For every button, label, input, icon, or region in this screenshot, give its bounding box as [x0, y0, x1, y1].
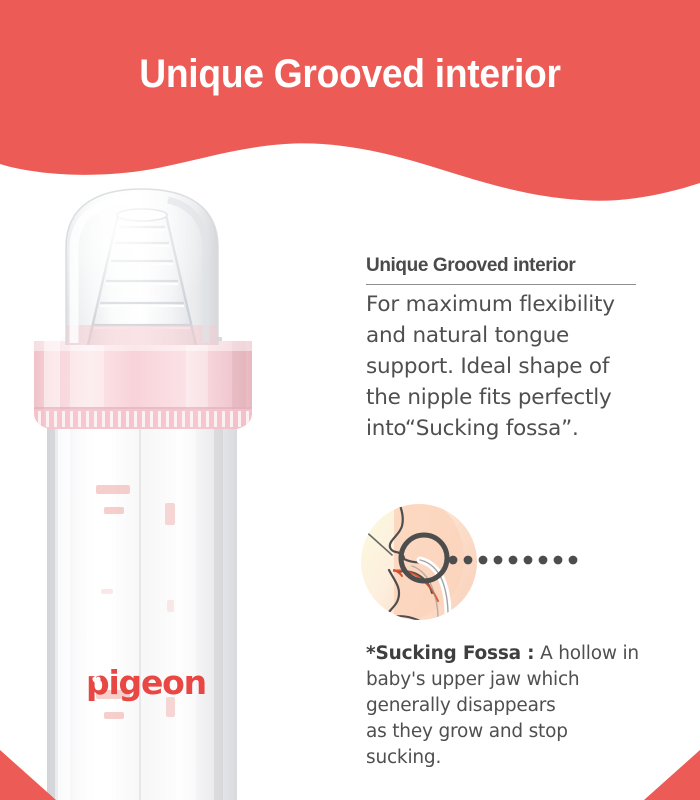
feature-text-panel: Unique Grooved interior For maximum flex… — [366, 255, 666, 444]
bottle-graphic — [0, 185, 340, 800]
baby-profile-diagram — [358, 500, 588, 625]
product-bottle-image — [0, 185, 340, 800]
heart-icon — [92, 676, 101, 685]
corner-accent-bottom-right — [644, 750, 700, 800]
dotted-leader-line — [449, 556, 578, 565]
sucking-fossa-definition: *Sucking Fossa : A hollow in baby's uppe… — [366, 641, 656, 771]
heading-divider — [366, 284, 636, 285]
feature-description: For maximum flexibility and natural tong… — [366, 289, 666, 444]
logo-wordmark: igeon — [108, 663, 205, 702]
pigeon-brand-logo: pigeon — [86, 663, 206, 702]
page-title: Unique Grooved interior — [25, 52, 676, 97]
sucking-fossa-illustration — [358, 500, 588, 625]
corner-accent-bottom-left — [0, 750, 56, 800]
bottle-nipple — [66, 185, 218, 347]
infographic-canvas: Unique Grooved interior — [0, 0, 700, 800]
footnote-term: *Sucking Fossa : — [366, 643, 534, 664]
bottle-cap — [34, 335, 252, 435]
feature-heading: Unique Grooved interior — [366, 255, 666, 277]
header-wave-shape — [0, 0, 700, 215]
header-banner: Unique Grooved interior — [0, 0, 700, 215]
